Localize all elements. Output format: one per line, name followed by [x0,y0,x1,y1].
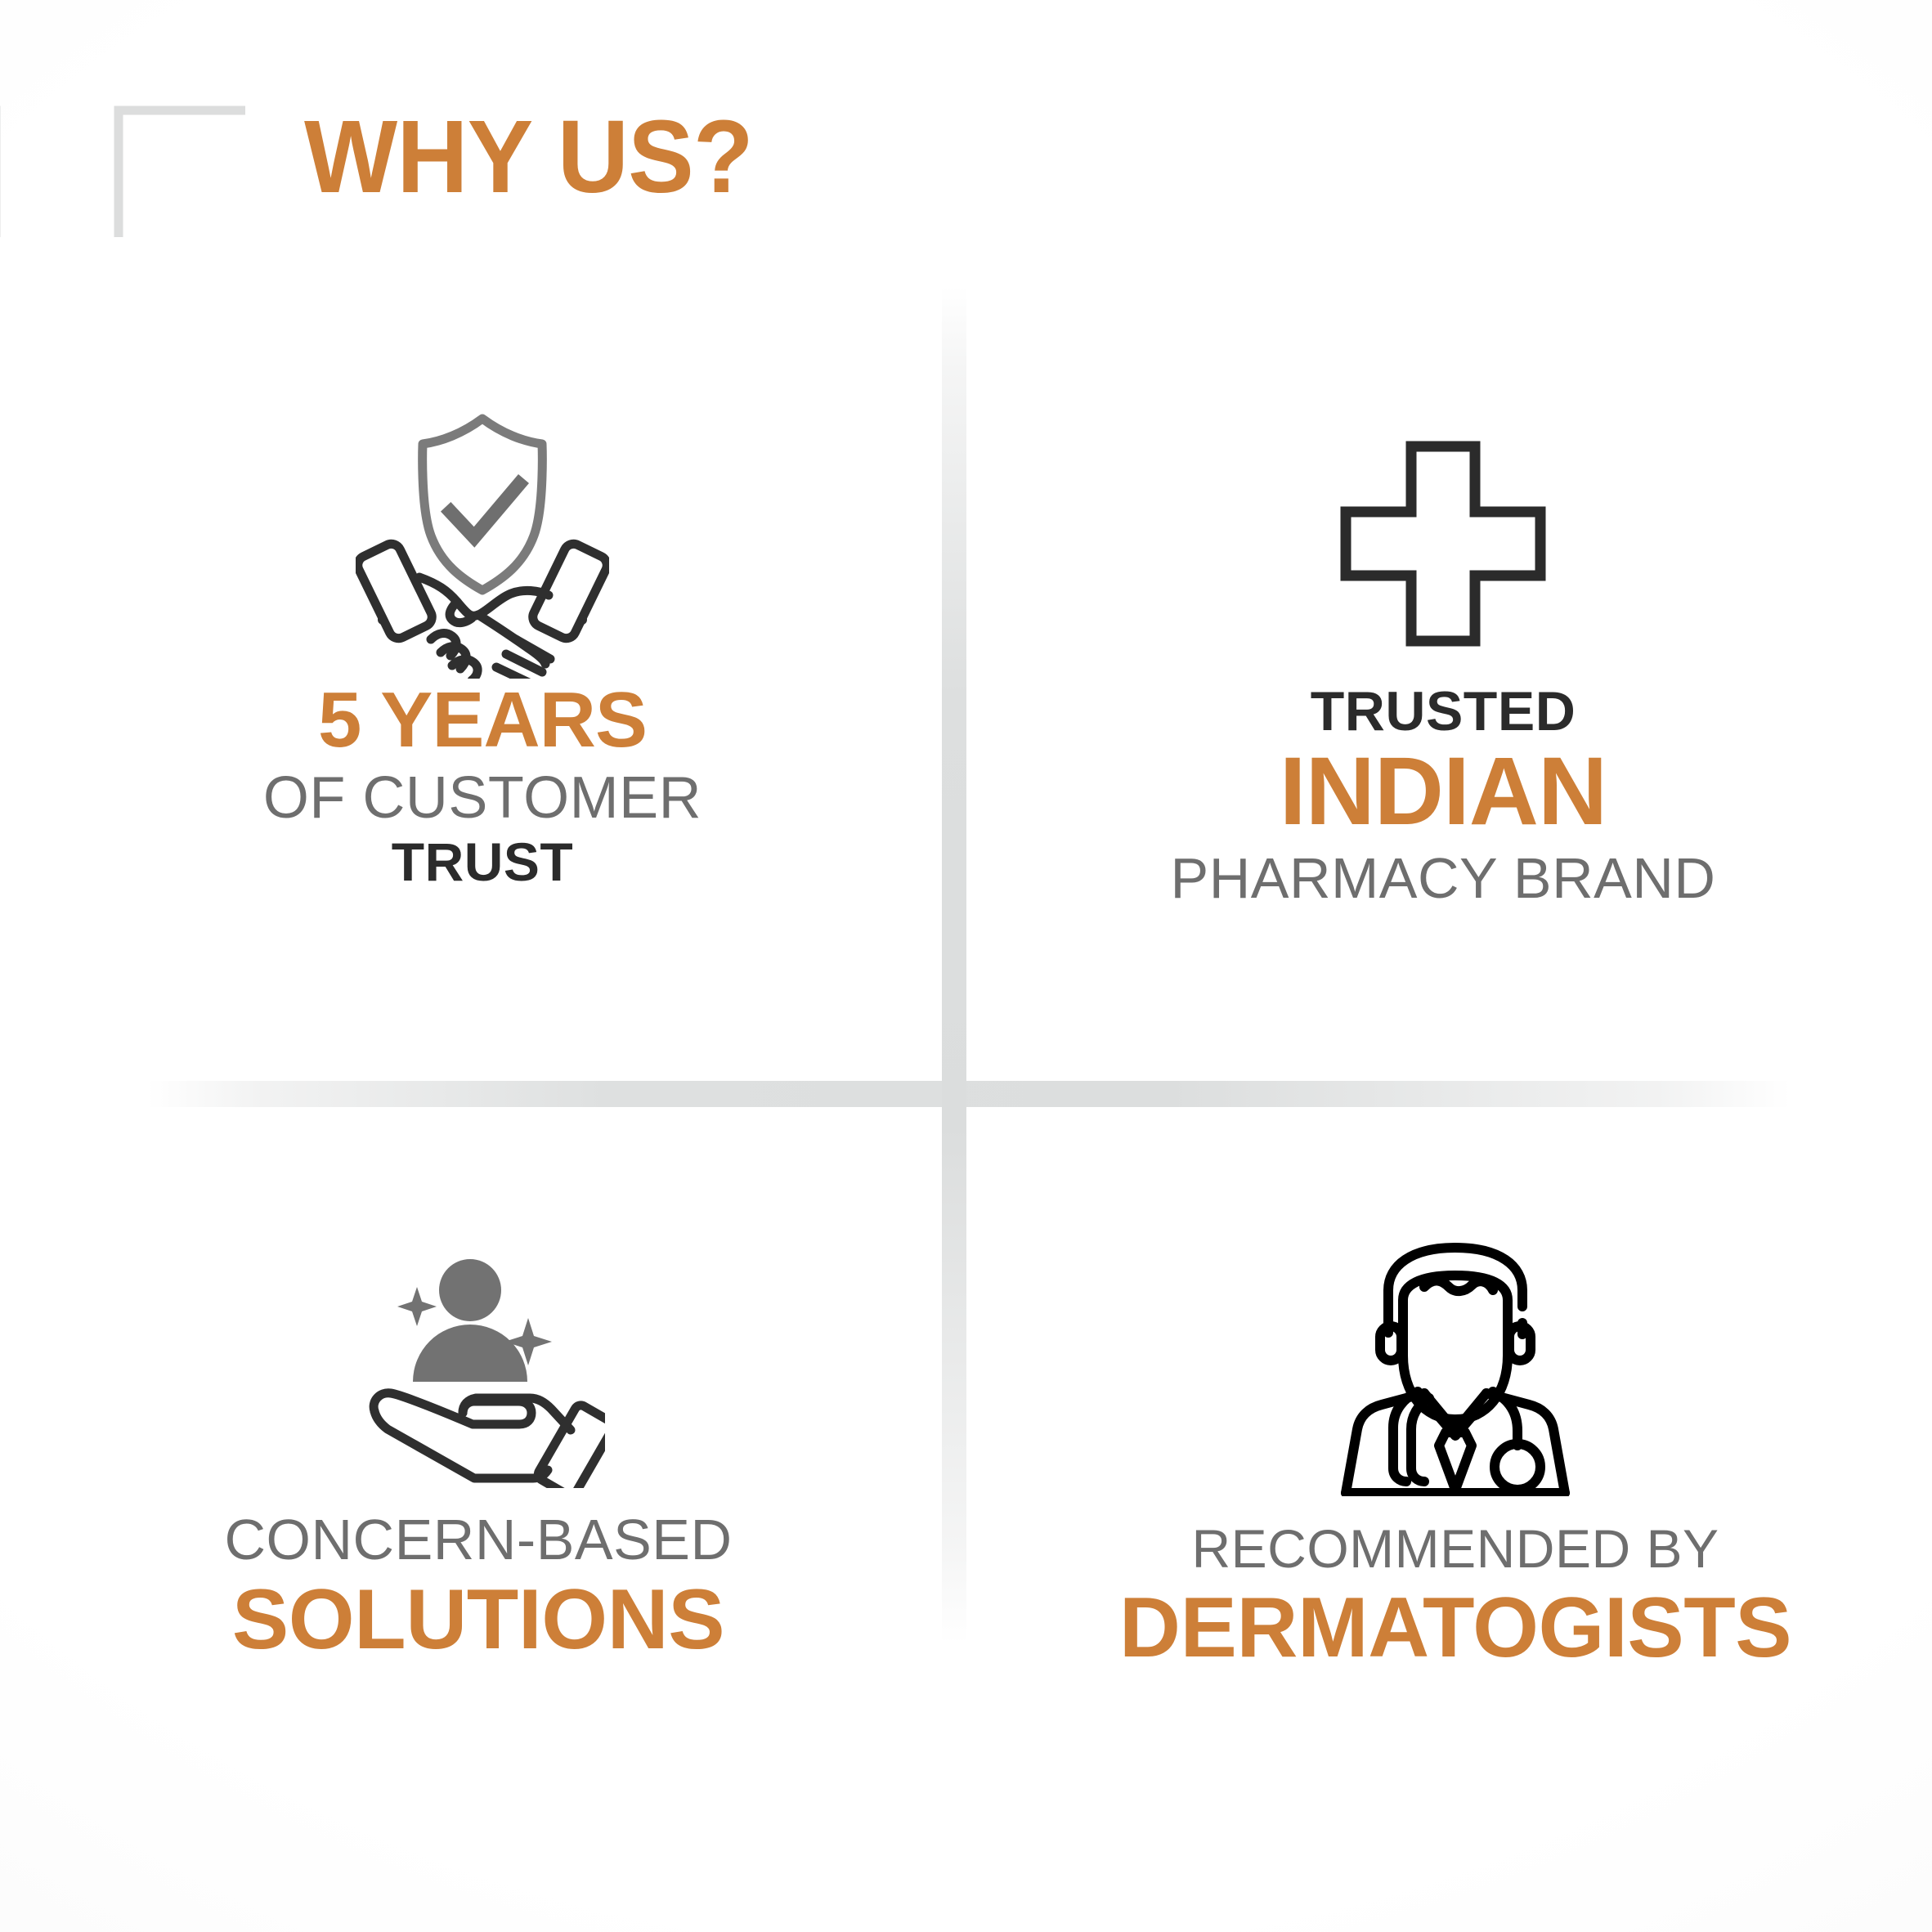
feature-card-recommended-by-dermatogists: RECOMMENDED BY DERMATOGISTS [989,1226,1921,1673]
feature-line-tertiary: TRUST [49,834,916,891]
feature-line-primary: 5 YEARS [49,679,916,762]
divider-horizontal [147,1081,1791,1107]
feature-line-secondary: SOLUTIONS [33,1575,924,1665]
feature-text-years-of-trust: 5 YEARS OF CUSTOMER TRUST [49,679,916,891]
feature-line-primary: RECOMMENDED BY [989,1521,1921,1578]
feature-line-tertiary: PHARMACY BRAND [997,848,1889,908]
feature-line-primary: CONCERN-BASED [33,1509,924,1570]
page-title: WHY US? [304,103,753,211]
handshake-shield-check-icon [356,409,609,679]
doctor-stethoscope-icon [1333,1226,1578,1496]
feature-line-secondary: INDIAN [997,741,1889,843]
feature-line-secondary: OF CUSTOMER [49,767,916,829]
feature-line-secondary: DERMATOGISTS [989,1583,1921,1673]
feature-text-trusted-indian-pharmacy-brand: TRUSTED INDIAN PHARMACY BRAND [997,682,1889,908]
feature-card-trusted-indian-pharmacy-brand: TRUSTED INDIAN PHARMACY BRAND [997,409,1889,908]
feature-text-concern-based-solutions: CONCERN-BASED SOLUTIONS [33,1509,924,1665]
feature-card-years-of-trust: 5 YEARS OF CUSTOMER TRUST [49,409,916,891]
divider-vertical [942,286,966,1643]
feature-text-recommended-by-dermatogists: RECOMMENDED BY DERMATOGISTS [989,1521,1921,1673]
decorative-plus-outline-icon [0,0,245,237]
why-us-infographic: WHY US? [0,0,1932,1932]
feature-line-primary: TRUSTED [997,682,1889,741]
medical-cross-icon [1336,409,1550,679]
hand-holding-person-sparkle-icon [352,1251,605,1488]
feature-card-concern-based-solutions: CONCERN-BASED SOLUTIONS [33,1251,924,1665]
